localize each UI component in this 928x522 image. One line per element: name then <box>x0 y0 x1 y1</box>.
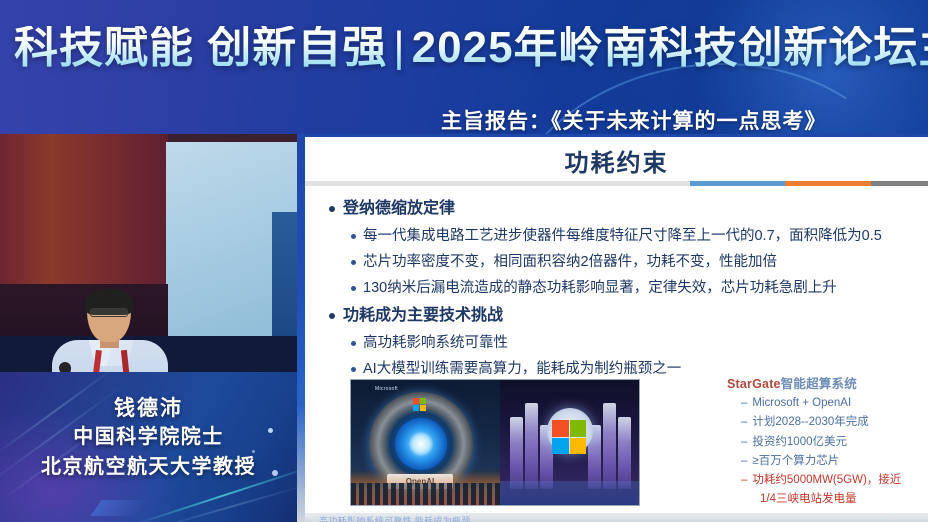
speaker-glasses <box>90 308 128 317</box>
stargate-item-text: 计划2028--2030年完成 <box>752 414 868 431</box>
bullet-dot-icon <box>351 286 356 291</box>
datacenter-image <box>500 380 639 505</box>
bullet-dot-icon <box>329 313 335 319</box>
bullet-text: 功耗成为主要技术挑战 <box>343 304 503 327</box>
event-title-separator: | <box>387 23 411 72</box>
slide-image-row: Microsoft OpenAI <box>350 379 640 506</box>
slide-bottom-cutoff: 高功耗影响系统可靠性 能耗成为瓶颈 <box>305 513 928 522</box>
stargate-item: – 计划2028--2030年完成 <box>741 414 928 431</box>
event-banner: 科技赋能 创新自强|2025年岭南科技创新论坛主论坛 主旨报告：《关于未来计算的… <box>0 0 928 134</box>
portal-swirl-graphic <box>409 432 433 456</box>
speaker-affiliation-2: 北京航空航天大学教授 <box>0 450 297 479</box>
stargate-title-cn: 智能超算系统 <box>781 377 857 391</box>
dash-icon: – <box>741 453 747 470</box>
bullet-level1: 功耗成为主要技术挑战 <box>329 304 928 327</box>
microsoft-logo-icon <box>413 398 426 411</box>
datacenter-pillar <box>618 417 631 489</box>
slide-accent-bar <box>690 181 928 186</box>
openai-portal-image: Microsoft OpenAI <box>351 380 500 505</box>
auditorium-shadow-strip <box>0 284 168 336</box>
dash-icon: – <box>741 395 747 412</box>
city-skyline-graphic <box>351 483 500 505</box>
dash-icon: – <box>741 472 747 489</box>
stargate-item-text: 功耗约5000MW(5GW)，接近 <box>752 472 901 489</box>
event-title-slogan: 科技赋能 创新自强 <box>14 23 387 72</box>
bullet-level2: 每一代集成电路工艺进步使器件每维度特征尺寸降至上一代的0.7，面积降低为0.5 <box>351 226 928 247</box>
keynote-subtitle: 主旨报告：《关于未来计算的一点思考》 <box>441 105 827 134</box>
stargate-item-text: Microsoft + OpenAI <box>752 395 851 412</box>
stargate-item: – ≥百万个算力芯片 <box>741 453 928 470</box>
bullet-dot-icon <box>351 234 356 239</box>
microsoft-caption: Microsoft <box>375 386 398 392</box>
stargate-item-continuation: 1/4三峡电站发电量 <box>760 491 928 508</box>
bullet-dot-icon <box>351 341 356 346</box>
bullet-text: 高功耗影响系统可靠性 <box>363 333 508 354</box>
bullet-dot-icon <box>351 260 356 265</box>
stargate-item-highlight: – 功耗约5000MW(5GW)，接近 <box>741 472 928 489</box>
dash-icon: – <box>741 434 747 451</box>
decor-streak-5 <box>153 484 297 522</box>
bullet-text: 芯片功率密度不变，相同面积容纳2倍器件，功耗不变，性能加倍 <box>363 252 777 273</box>
microsoft-logo-icon <box>552 420 586 454</box>
stargate-item: – Microsoft + OpenAI <box>741 395 928 412</box>
bullet-text: AI大模型训练需要高算力，能耗成为制约瓶颈之一 <box>363 359 681 380</box>
auditorium-screen-edge <box>272 212 297 336</box>
event-title-name: 2025年岭南科技创新论坛主论坛 <box>412 23 928 72</box>
bullet-level2: 芯片功率密度不变，相同面积容纳2倍器件，功耗不变，性能加倍 <box>351 252 928 273</box>
stargate-item-text: 投资约1000亿美元 <box>752 434 847 451</box>
bullet-level1: 登纳德缩放定律 <box>329 197 928 220</box>
stargate-title: StarGate智能超算系统 <box>727 373 928 392</box>
presentation-slide[interactable]: 功耗约束 登纳德缩放定律 每一代集成电路工艺进步使器件每维度特征尺寸降至上一代的… <box>305 137 928 522</box>
speaker-name: 钱德沛 <box>0 392 297 422</box>
datacenter-pillar <box>525 403 538 489</box>
slide-bottom-cutoff-text: 高功耗影响系统可靠性 能耗成为瓶颈 <box>319 514 471 522</box>
bullet-dot-icon <box>329 206 335 212</box>
event-title: 科技赋能 创新自强|2025年岭南科技创新论坛主论坛 <box>14 26 928 70</box>
slide-title: 功耗约束 <box>305 143 928 178</box>
stargate-item: – 投资约1000亿美元 <box>741 434 928 451</box>
stargate-title-en: StarGate <box>727 377 781 391</box>
slide-bullet-list: 登纳德缩放定律 每一代集成电路工艺进步使器件每维度特征尺寸降至上一代的0.7，面… <box>329 197 928 385</box>
bullet-level2: 130纳米后漏电流造成的静态功耗影响显著，定律失效，芯片功耗急剧上升 <box>351 278 928 299</box>
accent-segment-gray <box>871 181 928 186</box>
bullet-text: 130纳米后漏电流造成的静态功耗影响显著，定律失效，芯片功耗急剧上升 <box>363 278 837 299</box>
stargate-callout: StarGate智能超算系统 – Microsoft + OpenAI – 计划… <box>727 373 928 509</box>
stargate-item-text: ≥百万个算力芯片 <box>752 453 839 470</box>
datacenter-pillar <box>510 417 523 489</box>
datacenter-pillar <box>603 403 616 489</box>
decor-triangle <box>90 500 147 516</box>
accent-segment-blue <box>690 181 785 186</box>
livestream-screen: 科技赋能 创新自强|2025年岭南科技创新论坛主论坛 主旨报告：《关于未来计算的… <box>0 0 928 522</box>
speaker-affiliation-1: 中国科学院院士 <box>0 420 297 449</box>
bullet-text: 登纳德缩放定律 <box>343 197 455 220</box>
bullet-level2: 高功耗影响系统可靠性 <box>351 333 928 354</box>
accent-segment-orange <box>785 181 871 186</box>
datacenter-floor-graphic <box>500 481 639 505</box>
dash-icon: – <box>741 414 747 431</box>
bullet-dot-icon <box>351 367 356 372</box>
bullet-text: 每一代集成电路工艺进步使器件每维度特征尺寸降至上一代的0.7，面积降低为0.5 <box>363 226 882 247</box>
